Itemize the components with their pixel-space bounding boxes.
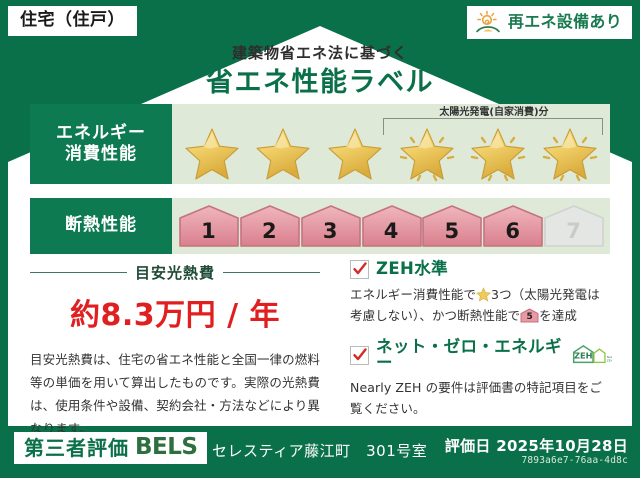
energy-performance-row: エネルギー 消費性能 太陽光発電(自家消費)分: [30, 104, 610, 184]
bels-jp-label: 第三者評価: [24, 438, 129, 458]
insulation-level-value: 2: [262, 221, 277, 248]
insulation-level-value: 7: [566, 221, 581, 248]
star-solar: [396, 122, 458, 182]
energy-performance-label: エネルギー 消費性能: [30, 104, 172, 184]
insulation-performance-body: 1 2 3 4 5 6: [172, 198, 610, 254]
star-base: [252, 122, 314, 182]
insulation-level-badge-6: 6: [482, 204, 543, 248]
solar-bracket-caption: 太陽光発電(自家消費)分: [385, 103, 603, 118]
energy-performance-body: 太陽光発電(自家消費)分: [172, 104, 610, 184]
claim-net-zero-head: ネット・ゼロ・エネルギー ZEH Nearly ZEH: [350, 339, 612, 372]
insulation-level-badge-7: 7: [543, 204, 604, 248]
energy-label-line1: エネルギー: [56, 123, 146, 143]
energy-label-root: 住宅（住戸） 再エネ設備あり 建築物省エネ法に基づく 省エネ性能ラベル: [0, 0, 640, 478]
star-base: [324, 122, 386, 182]
inline-star-icon: [476, 287, 491, 302]
insulation-level-badge-5: 5: [421, 204, 482, 248]
evaluation-id: 7893a6e7-76aa-4d8c: [521, 455, 628, 466]
building-type-badge: 住宅（住戸）: [8, 6, 137, 36]
inline-badge-value: 5: [520, 308, 539, 323]
zeh-body-part3: を達成: [539, 308, 577, 323]
label-title: 省エネ性能ラベル: [0, 60, 640, 99]
check-icon: [350, 260, 369, 279]
insulation-level-value: 3: [323, 221, 338, 248]
renewable-equipment-badge: 再エネ設備あり: [467, 6, 632, 39]
insulation-level-scale: 1 2 3 4 5 6: [178, 198, 604, 254]
utility-cost-value: 約8.3万円 / 年: [30, 290, 320, 334]
insulation-performance-row: 断熱性能 1 2 3 4 5: [30, 198, 610, 254]
insulation-level-value: 6: [505, 221, 520, 248]
star-base: [181, 122, 243, 182]
insulation-level-value: 4: [384, 221, 399, 248]
property-name: セレスティア藤江町 301号室: [212, 440, 427, 461]
utility-cost-heading: 目安光熱費: [135, 262, 215, 283]
svg-text:ZEH: ZEH: [606, 358, 612, 362]
claim-net-zero-title: ネット・ゼロ・エネルギー: [376, 339, 563, 372]
insulation-level-badge-4: 4: [361, 204, 422, 248]
renewable-badge-label: 再エネ設備あり: [508, 14, 622, 30]
claims-section: ZEH水準 エネルギー消費性能で3つ（太陽光発電は考慮しない）、かつ断熱性能で5…: [350, 260, 612, 424]
utility-cost-section: 目安光熱費 約8.3万円 / 年 目安光熱費は、住宅の省エネ性能と全国一律の燃料…: [30, 262, 320, 441]
sun-icon: [475, 10, 501, 34]
energy-label-line2: 消費性能: [65, 144, 137, 164]
utility-cost-heading-row: 目安光熱費: [30, 262, 320, 283]
star-solar: [467, 122, 529, 182]
zeh-house-icon: ZEH Nearly ZEH: [570, 344, 612, 366]
energy-star-rating: [176, 122, 606, 182]
insulation-level-badge-1: 1: [178, 204, 239, 248]
zeh-body-star-count: 3つ: [491, 287, 512, 302]
star-solar: [539, 122, 601, 182]
insulation-level-badge-2: 2: [239, 204, 300, 248]
evaluation-date: 評価日 2025年10月28日: [445, 435, 628, 456]
check-icon: [350, 346, 369, 365]
claim-net-zero-energy: ネット・ゼロ・エネルギー ZEH Nearly ZEH Nearly ZEH の…: [350, 339, 612, 420]
claim-zeh-standard-head: ZEH水準: [350, 260, 612, 279]
inline-insulation-badge: 5: [520, 308, 539, 323]
insulation-level-value: 5: [445, 221, 460, 248]
svg-text:ZEH: ZEH: [574, 351, 593, 361]
claim-net-zero-body: Nearly ZEH の要件は評価書の特記項目をご覧ください。: [350, 377, 612, 420]
insulation-level-badge-3: 3: [300, 204, 361, 248]
bels-badge: 第三者評価 BELS: [14, 432, 207, 464]
insulation-level-value: 1: [201, 221, 216, 248]
zeh-body-part1: エネルギー消費性能で: [350, 287, 476, 302]
rule-right: [223, 272, 320, 274]
claim-zeh-standard-body: エネルギー消費性能で3つ（太陽光発電は考慮しない）、かつ断熱性能で5を達成: [350, 284, 612, 327]
claim-zeh-standard-title: ZEH水準: [376, 261, 448, 278]
insulation-performance-label: 断熱性能: [30, 198, 172, 254]
label-footer: 第三者評価 BELS セレスティア藤江町 301号室 評価日 2025年10月2…: [0, 426, 640, 478]
claim-zeh-standard: ZEH水準 エネルギー消費性能で3つ（太陽光発電は考慮しない）、かつ断熱性能で5…: [350, 260, 612, 327]
bels-en-label: BELS: [135, 436, 197, 459]
rule-left: [30, 272, 127, 274]
